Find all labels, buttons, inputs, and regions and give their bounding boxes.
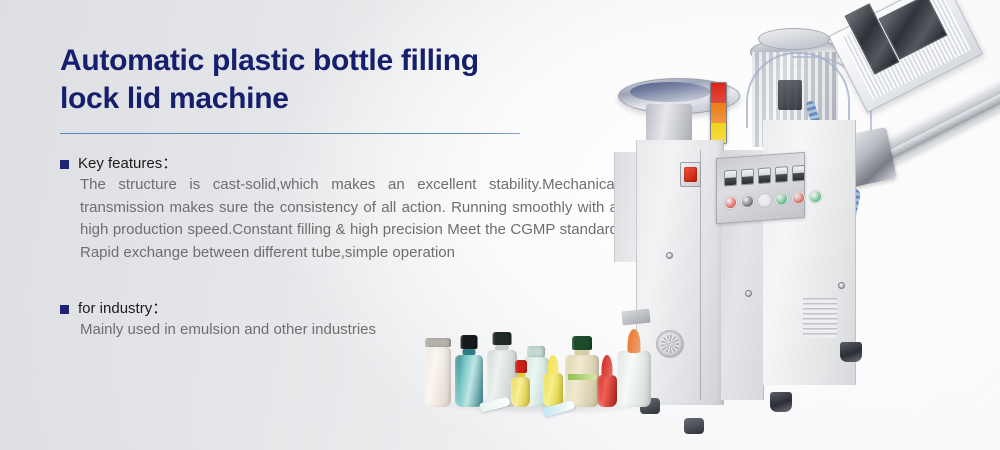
feature-heading-for-industry: for industry： [78,300,167,317]
bottle-tube-beige [425,338,451,407]
selector-knob[interactable] [758,167,771,184]
bottle-cap [493,332,512,345]
bottle-body [455,355,483,407]
square-bullet-icon [60,160,69,169]
push-button[interactable] [724,196,737,210]
push-button[interactable] [775,192,788,206]
bottle-body [425,347,451,407]
bottle-neck [463,349,476,355]
caster-wheel [770,392,792,412]
operator-control-panel[interactable] [716,152,805,224]
bottle-label [568,374,597,380]
push-button[interactable] [741,194,754,208]
selector-knob[interactable] [724,170,737,187]
bottle-body [597,375,617,407]
bottle-nozzle-cap [628,329,641,353]
stack-light-amber [711,103,726,123]
caster-wheel [840,342,862,362]
stack-light-red [711,83,726,103]
bottle-bottle-cream-label [565,336,599,407]
bottle-body [543,373,563,407]
cabinet-door-seam [700,150,701,400]
page-title: Automatic plastic bottle filling lock li… [60,42,620,119]
emergency-stop-button[interactable] [680,162,701,187]
bottle-cap [425,338,451,347]
bottle-body [511,377,530,407]
feature-body-key-features: The structure is cast-solid,which makes … [80,174,618,264]
bottle-neck [495,345,509,350]
bowl-feeder-inner [630,82,710,102]
stack-light-tower [710,82,727,144]
push-button[interactable] [758,193,771,207]
bullet-row-key-features: Key features： [60,155,620,172]
bottle-body [565,355,599,407]
bottle-cap [461,335,478,349]
square-bullet-icon [60,305,69,314]
selector-knob[interactable] [775,166,788,183]
panel-screw [838,282,845,289]
plastic-bottle-sample-group [425,296,665,421]
bottle-cap [572,336,592,350]
bottle-nozzle-cap [602,355,613,377]
bottle-neck [575,350,590,355]
panel-screw [745,290,752,297]
bottle-bottle-small-red [511,360,530,407]
cabinet-vent-louvres [803,298,837,338]
bottle-neck [516,373,525,377]
filling-turret-upper-disc [758,28,830,50]
push-button[interactable] [809,190,822,204]
selector-knob[interactable] [792,165,805,182]
feature-block-key-features: Key features： The structure is cast-soli… [60,155,620,264]
bottle-body [617,351,651,407]
panel-screw [666,252,673,259]
bottle-bottle-red-nozzle [597,353,617,407]
feature-heading-key-features: Key features： [78,155,177,172]
bottle-cap [515,360,527,373]
product-banner: Automatic plastic bottle filling lock li… [0,0,1000,450]
leveling-foot [684,418,704,434]
bottle-bottle-yellow-nozzle [543,353,563,407]
bottle-nozzle-cap [548,355,559,375]
bottle-bottle-teal [455,335,483,407]
title-divider [60,133,520,134]
bottle-bottle-white-jug [617,327,651,407]
selector-knob[interactable] [741,168,754,185]
selector-knob-row[interactable] [724,165,805,187]
push-button[interactable] [792,191,805,205]
headline-block: Automatic plastic bottle filling lock li… [60,42,620,119]
